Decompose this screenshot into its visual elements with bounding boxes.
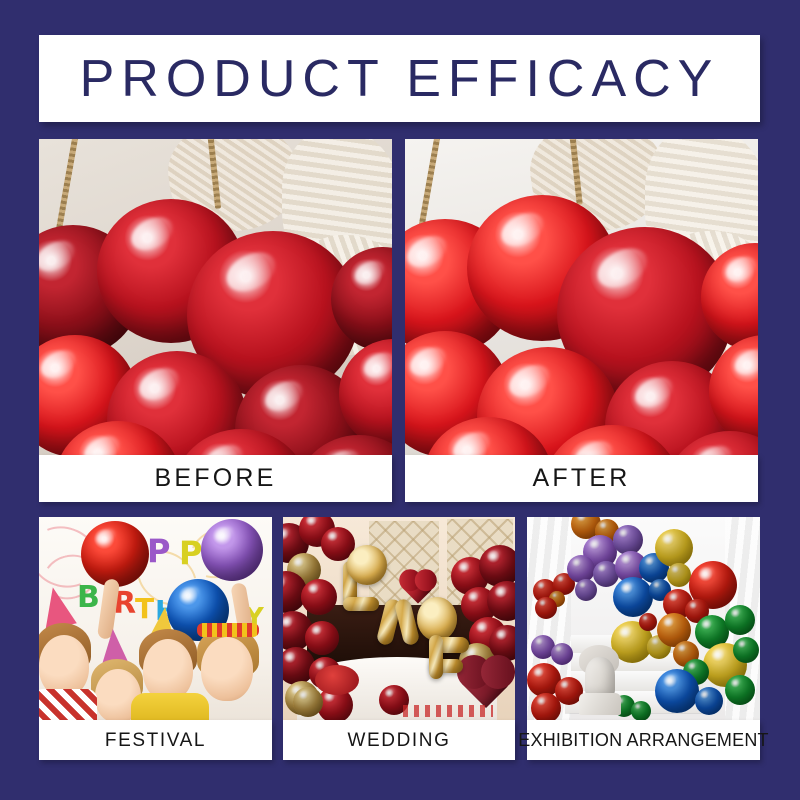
photo-exhibition-art [527, 517, 760, 720]
poster-root: PRODUCT EFFICACY BEFORE [0, 0, 800, 800]
page-title: PRODUCT EFFICACY [80, 53, 720, 105]
photo-festival: P P B I R T H Y [39, 517, 272, 720]
caption-after-label: AFTER [533, 466, 631, 491]
photo-before-art [39, 139, 392, 455]
photo-after [405, 139, 758, 455]
photo-exhibition [527, 517, 760, 720]
caption-wedding-label: WEDDING [347, 731, 450, 750]
photo-before [39, 139, 392, 455]
photo-festival-art: P P B I R T H Y [39, 517, 272, 720]
caption-festival: FESTIVAL [39, 720, 272, 760]
caption-exhibition: EXHIBITION ARRANGEMENT [527, 720, 760, 760]
caption-wedding: WEDDING [283, 720, 515, 760]
title-banner: PRODUCT EFFICACY [39, 35, 760, 122]
caption-before: BEFORE [39, 455, 392, 502]
caption-exhibition-label: EXHIBITION ARRANGEMENT [518, 731, 768, 749]
photo-after-art [405, 139, 758, 455]
caption-before-label: BEFORE [155, 466, 277, 491]
photo-wedding [283, 517, 515, 720]
photo-wedding-art [283, 517, 515, 720]
caption-festival-label: FESTIVAL [105, 731, 206, 750]
caption-after: AFTER [405, 455, 758, 502]
